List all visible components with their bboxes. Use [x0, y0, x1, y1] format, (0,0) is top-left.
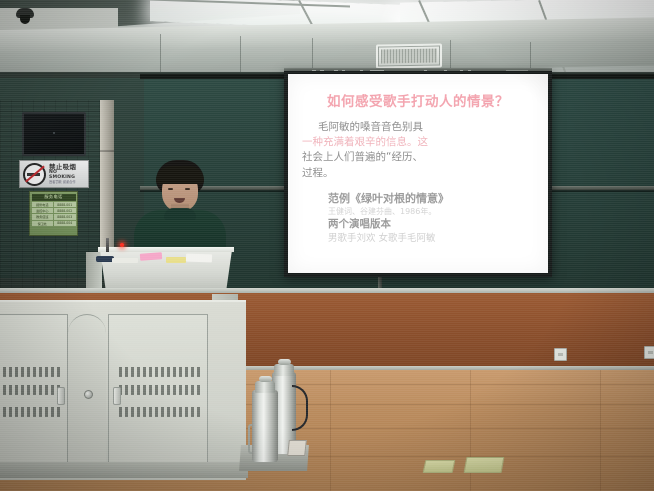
phone-number: 8888-001: [54, 202, 76, 207]
cabinet-base: [0, 462, 248, 478]
phone-label: 教务值班: [32, 214, 54, 219]
podium-paper: [186, 254, 212, 263]
slide-body-line: 过程。: [302, 166, 534, 181]
phone-number: 8888-004: [54, 221, 76, 226]
cabinet-door-right[interactable]: [108, 314, 208, 466]
podium-paper: [112, 258, 138, 263]
slide-body-line: 社会上人们普遍的“经历、: [302, 150, 534, 165]
slide-title: 如何感受歌手打动人的情景？: [302, 90, 534, 110]
slide-body-line: 一种充满着艰辛的信息。这: [302, 135, 534, 150]
cabinet-handle-left[interactable]: [57, 387, 65, 405]
thermos-cap: [274, 364, 294, 376]
cabinet-door-left[interactable]: [0, 314, 68, 466]
teacher-presenter: [128, 160, 232, 260]
ceiling: [0, 0, 654, 78]
phone-label: 监控中心: [32, 208, 54, 213]
equipment-cabinet: [0, 300, 246, 480]
no-smoking-english: NO SMOKING: [49, 171, 85, 180]
slide-versions-title: 两个演唱版本: [328, 217, 534, 232]
no-smoking-subtext: 违者罚款 谢谢合作: [49, 181, 85, 184]
floor-notebook: [464, 457, 505, 473]
classroom-photo: 禁止吸烟 NO SMOKING 违者罚款 谢谢合作 服务电话 报修电话 8888…: [0, 0, 654, 491]
wall-pillar: [100, 100, 114, 260]
slide-example-title: 范例《绿叶对根的情意》: [328, 191, 534, 206]
thermos-cap: [255, 381, 275, 393]
phone-label: 保卫处: [32, 221, 54, 226]
podium-microphone: [106, 238, 109, 252]
stainless-steel-thermos: [252, 390, 278, 462]
wall-monitor: [22, 112, 86, 156]
pillar-seam: [100, 150, 114, 152]
no-smoking-sign: 禁止吸烟 NO SMOKING 违者罚款 谢谢合作: [19, 160, 89, 188]
projected-slide: 如何感受歌手打动人的情景？ 毛阿敏的嗓音音色别具 一种充满着艰辛的信息。这 社会…: [288, 74, 548, 273]
thermos-knob: [278, 359, 291, 365]
teacher-turtleneck-collar: [164, 208, 196, 220]
service-phone-board: 服务电话 报修电话 8888-001 监控中心 8888-002 教务值班 88…: [29, 191, 78, 236]
teacher-eye: [168, 188, 173, 190]
podium-paper: [166, 257, 186, 263]
phone-label: 报修电话: [32, 202, 54, 207]
thermos-knob: [259, 376, 272, 382]
phone-number: 8888-003: [54, 214, 76, 219]
floor-notebook: [423, 460, 456, 473]
power-outlet[interactable]: [644, 346, 654, 359]
teacher-hair-front: [156, 166, 204, 184]
slide-content: 如何感受歌手打动人的情景？ 毛阿敏的嗓音音色别具 一种充满着艰辛的信息。这 社会…: [288, 74, 548, 273]
power-outlet[interactable]: [554, 348, 567, 361]
slide-versions-detail: 男歌手刘欢 女歌手毛阿敏: [328, 232, 534, 245]
security-camera-icon: [14, 8, 36, 24]
slide-body-line: 毛阿敏的嗓音音色别具: [302, 120, 534, 135]
podium-indicator-light: [120, 243, 124, 247]
podium-desktop: [98, 247, 234, 252]
air-conditioning-vent: [376, 43, 442, 68]
soffit-seam: [160, 34, 161, 76]
teacher-eye: [185, 188, 190, 190]
projection-screen: 如何感受歌手打动人的情景？ 毛阿敏的嗓音音色别具 一种充满着艰辛的信息。这 社会…: [284, 71, 552, 277]
service-phone-rows: 报修电话 8888-001 监控中心 8888-002 教务值班 8888-00…: [32, 202, 76, 226]
slide-example-block: 范例《绿叶对根的情意》 王健词、谷建芬曲、1986年。 两个演唱版本 男歌手刘欢…: [302, 191, 534, 246]
slide-body: 毛阿敏的嗓音音色别具 一种充满着艰辛的信息。这 社会上人们普遍的“经历、 过程。: [302, 120, 534, 181]
service-phone-header: 服务电话: [32, 194, 76, 201]
vent-grille: [381, 49, 437, 64]
no-smoking-icon: [23, 163, 46, 186]
phone-number: 8888-002: [54, 208, 76, 213]
tray-label-card: [287, 440, 307, 456]
slide-example-credit: 王健词、谷建芬曲、1986年。: [328, 206, 534, 217]
cabinet-lock[interactable]: [84, 390, 93, 399]
cabinet-handle-right[interactable]: [113, 387, 121, 405]
